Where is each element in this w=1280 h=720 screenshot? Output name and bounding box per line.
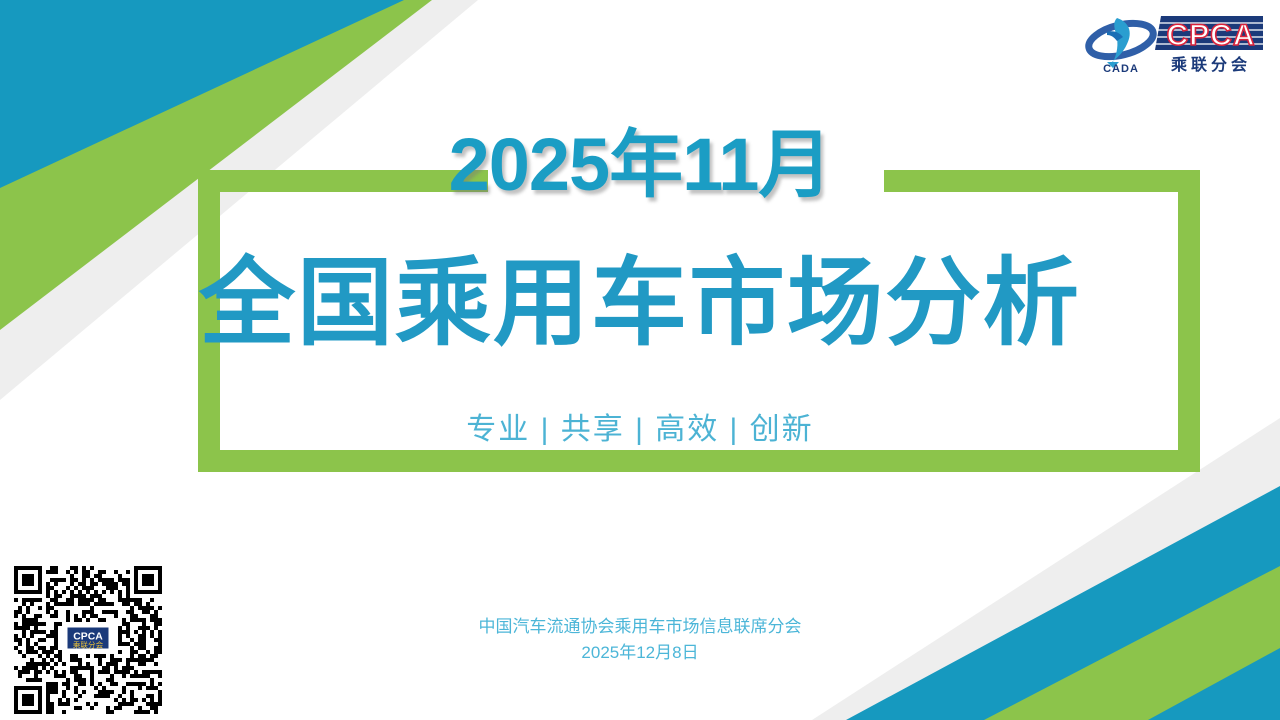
slide-headline: 全国乘用车市场分析 — [0, 252, 1280, 356]
footer-organization: 中国汽车流通协会乘用车市场信息联席分会 — [0, 614, 1280, 640]
cpca-wordmark: CPCA — [1155, 16, 1263, 52]
presentation-slide: 2025年11月 全国乘用车市场分析 专业 | 共享 | 高效 | 创新 中国汽… — [0, 0, 1280, 720]
footer-date: 2025年12月8日 — [0, 640, 1280, 666]
cada-logo-icon: CADA — [1085, 17, 1156, 75]
svg-text:CADA: CADA — [1103, 63, 1139, 75]
cpca-chinese-name: 乘联分会 — [1170, 55, 1251, 74]
svg-text:CPCA: CPCA — [1166, 19, 1255, 52]
background-decoration — [0, 0, 1280, 720]
frame-border-bottom — [198, 450, 1200, 472]
slide-footer: 中国汽车流通协会乘用车市场信息联席分会 2025年12月8日 — [0, 614, 1280, 665]
svg-text:乘联分会: 乘联分会 — [73, 640, 104, 650]
qr-center-logo: CPCA 乘联分会 — [66, 626, 110, 650]
cpca-logo: CADA CPCA 乘联分会 — [1083, 10, 1263, 76]
slide-date-title: 2025年11月 — [0, 128, 1280, 202]
slide-tagline: 专业 | 共享 | 高效 | 创新 — [0, 404, 1280, 448]
cpca-qr-code: CPCA 乘联分会 — [8, 566, 168, 714]
